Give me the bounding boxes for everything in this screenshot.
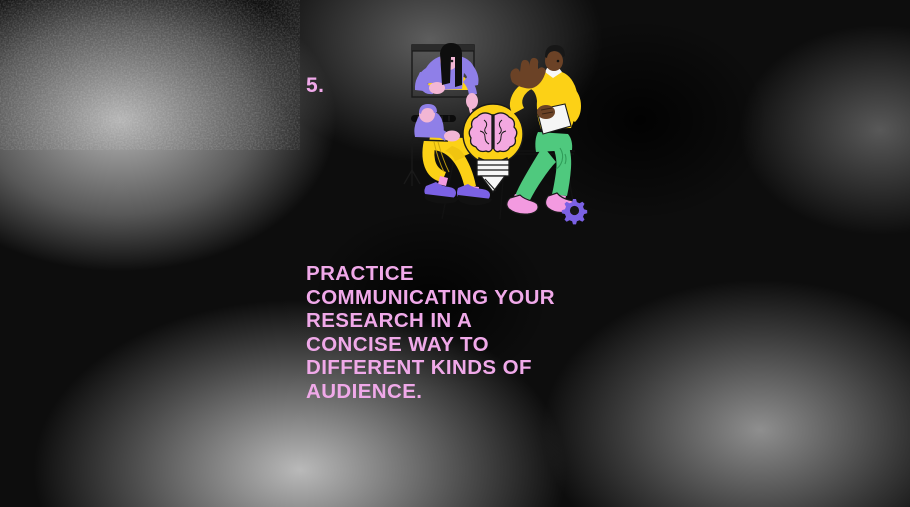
slide-root: 5. bbox=[0, 0, 910, 507]
brainstorming-illustration bbox=[400, 36, 595, 236]
gear-icon bbox=[562, 199, 587, 224]
step-number: 5. bbox=[306, 75, 325, 96]
headline-text: PRACTICE COMMUNICATING YOUR RESEARCH IN … bbox=[306, 262, 606, 403]
